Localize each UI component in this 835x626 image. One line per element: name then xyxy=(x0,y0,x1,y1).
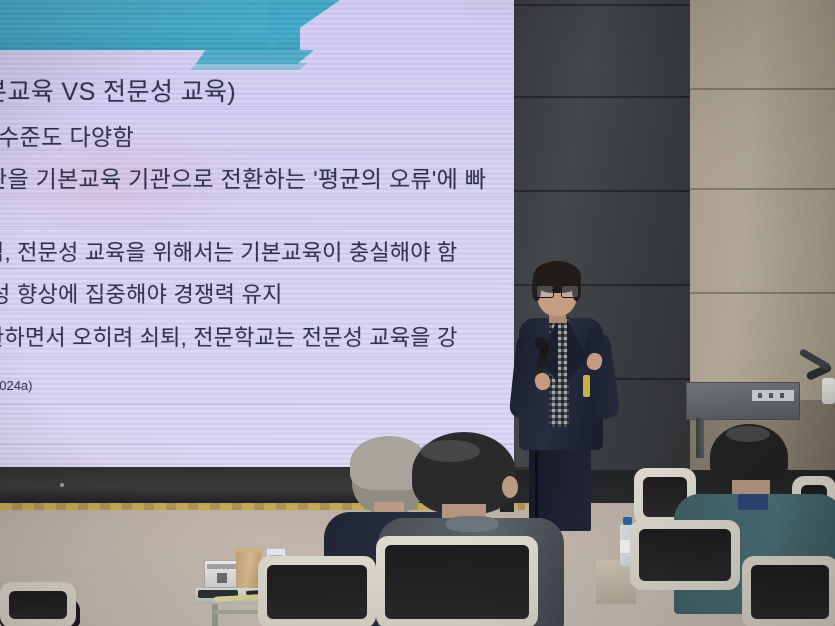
slide-teal-arrow xyxy=(268,0,340,50)
audience-right-hair-highlight xyxy=(726,426,770,442)
slide-text-line-3: 관을 기본교육 기관으로 전환하는 '평균의 오류'에 빠 xyxy=(0,160,486,194)
presentation-photo-scene: 본교육 VS 전문성 교육) 수준도 다양함 관을 기본교육 기관으로 전환하는… xyxy=(0,0,835,626)
av-panel-label xyxy=(752,390,794,401)
chair-front-center xyxy=(376,536,538,626)
av-wall-panel xyxy=(686,382,800,420)
slide-teal-tab-shadow xyxy=(190,63,308,70)
lanyard xyxy=(738,494,768,510)
audience-center-hair-highlight xyxy=(420,440,480,462)
chair-front-left xyxy=(258,556,376,626)
chair-front-right xyxy=(742,556,835,626)
slide-text-line-2: 수준도 다양함 xyxy=(0,118,134,152)
av-white-module xyxy=(822,378,835,404)
screen-glare-lower xyxy=(0,430,260,467)
slide-teal-banner xyxy=(0,0,300,50)
slide-text-line-5: 성 향상에 집중해야 경쟁력 유지 xyxy=(0,277,283,309)
audience-center-ear xyxy=(502,476,518,498)
chair-mid-right xyxy=(630,520,740,590)
slide-text-line-1: 본교육 VS 전문성 교육) xyxy=(0,72,236,108)
eyeglasses-icon xyxy=(536,285,578,296)
audience-center-collar xyxy=(446,516,498,532)
slide-text-line-6: 환하면서 오히려 쇠퇴, 전문학교는 전문성 교육을 강 xyxy=(0,320,457,352)
microphone-head xyxy=(535,337,547,350)
desk-leg-left xyxy=(212,604,218,626)
slide-text-line-4: 님, 전문성 교육을 위해서는 기본교육이 충실해야 함 xyxy=(0,235,457,267)
projection-screen: 본교육 VS 전문성 교육) 수준도 다양함 관을 기본교육 기관으로 전환하는… xyxy=(0,0,514,467)
presenter-badge xyxy=(583,375,590,397)
slide-citation-text: 2024a) xyxy=(0,378,32,393)
chair-far-left xyxy=(0,582,76,626)
beige-wall-panel xyxy=(690,0,835,400)
slide-teal-tab xyxy=(196,50,314,64)
